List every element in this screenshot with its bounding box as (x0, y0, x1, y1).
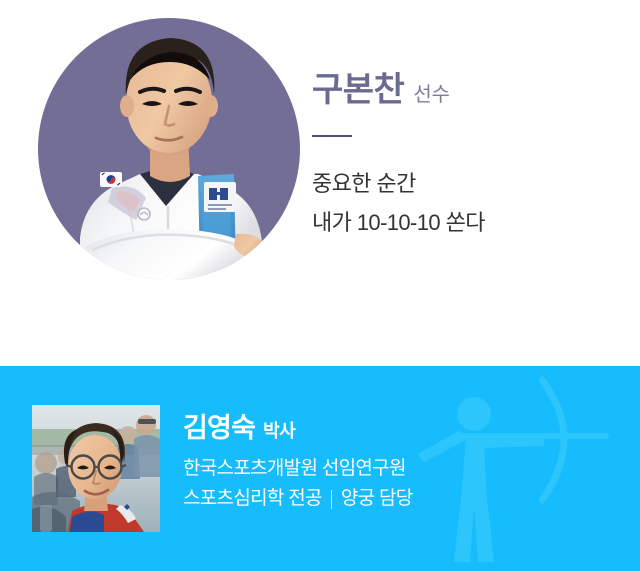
athlete-name: 구본찬 (312, 72, 404, 109)
athlete-name-suffix: 선수 (413, 78, 449, 107)
athlete-quote: 중요한 순간 내가 10-10-10 쏜다 (312, 165, 612, 242)
expert-specialty-row: 스포츠심리학 전공 양궁 담당 (183, 485, 583, 513)
expert-portrait-illustration (32, 405, 160, 532)
expert-photo (32, 405, 160, 532)
title-divider (312, 135, 352, 137)
specialty-separator (331, 490, 332, 509)
expert-specialty: 스포츠심리학 전공 (183, 485, 322, 513)
athlete-quote-line-2: 내가 10-10-10 쏜다 (312, 204, 612, 243)
athlete-section: 구본찬 선수 중요한 순간 내가 10-10-10 쏜다 (0, 0, 640, 366)
expert-name: 김영숙 (183, 414, 255, 444)
athlete-name-row: 구본찬 선수 (312, 72, 612, 109)
athlete-photo (22, 6, 282, 282)
athlete-portrait-illustration (22, 6, 284, 282)
expert-assignment: 양궁 담당 (341, 485, 413, 513)
athlete-quote-line-1: 중요한 순간 (312, 165, 612, 204)
expert-affiliation: 한국스포츠개발원 선임연구원 (183, 455, 583, 483)
expert-name-suffix: 박사 (263, 417, 295, 443)
athlete-text-block: 구본찬 선수 중요한 순간 내가 10-10-10 쏜다 (312, 72, 612, 242)
athlete-interview-card: 구본찬 선수 중요한 순간 내가 10-10-10 쏜다 (0, 0, 640, 571)
expert-text-block: 김영숙 박사 한국스포츠개발원 선임연구원 스포츠심리학 전공 양궁 담당 (183, 414, 583, 513)
expert-name-row: 김영숙 박사 (183, 414, 583, 444)
